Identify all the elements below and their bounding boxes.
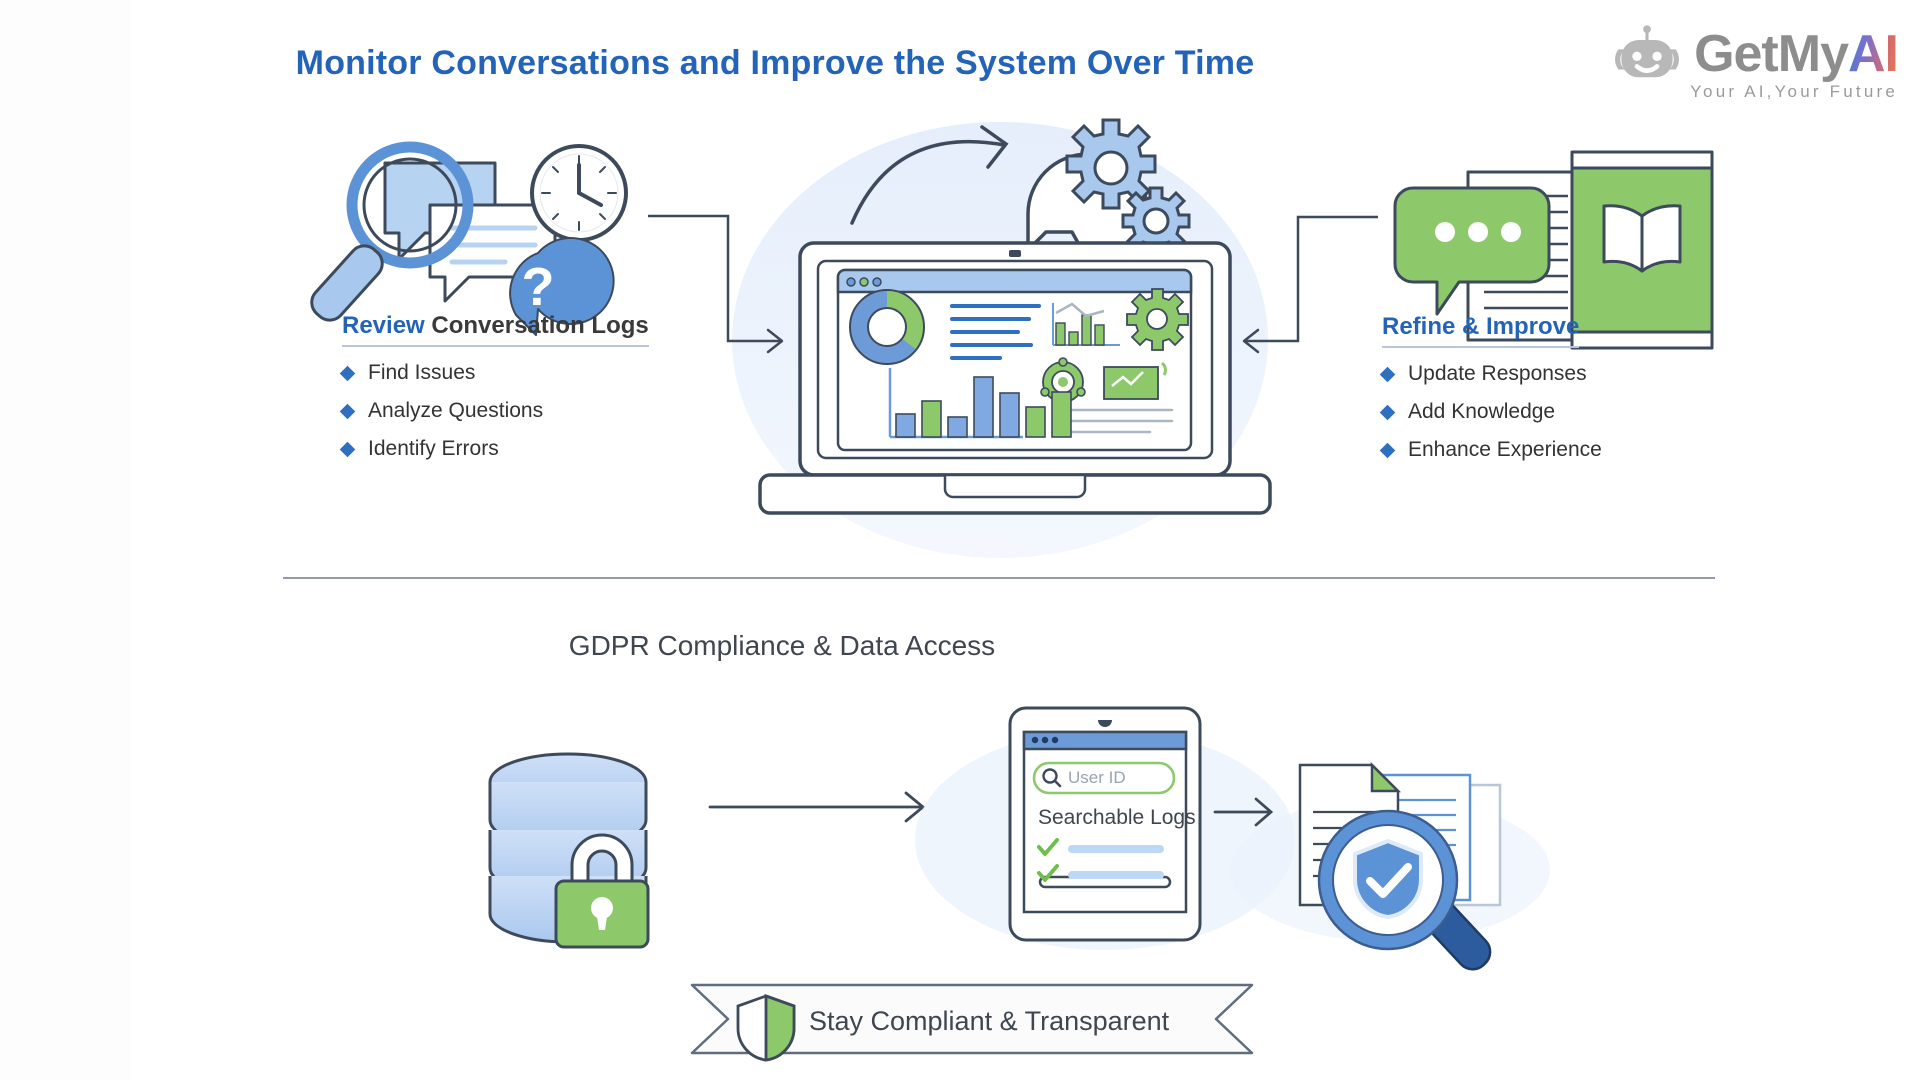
left-heading-accent: Review [342,312,425,339]
svg-text:?: ? [522,257,555,317]
shield-icon [738,996,794,1060]
tablet-icon [915,708,1295,950]
diamond-bullet-icon [1380,366,1396,382]
left-column-heading: Review Conversation Logs [342,312,649,347]
list-item: Identify Errors [342,437,649,461]
tablet-heading: Searchable Logs [1038,806,1196,829]
ribbon-label: Stay Compliant & Transparent [809,1006,1170,1036]
list-item-label: Identify Errors [368,437,499,461]
gear-icon [1067,120,1155,208]
list-item-label: Find Issues [368,361,475,385]
list-item-label: Analyze Questions [368,399,543,423]
right-column-heading: Refine & Improve [1382,313,1579,348]
diamond-bullet-icon [1380,404,1396,420]
dashboard-icon [838,270,1191,450]
diamond-bullet-icon [1380,442,1396,458]
diamond-bullet-icon [340,365,356,381]
gear-card [1127,289,1188,350]
right-column-bullets: Update Responses Add Knowledge Enhance E… [1382,362,1602,462]
diamond-bullet-icon [340,403,356,419]
list-item: Find Issues [342,361,649,385]
right-column: Refine & Improve Update Responses Add Kn… [1382,313,1602,476]
section-two-title: GDPR Compliance & Data Access [0,630,1920,662]
list-item-label: Update Responses [1408,362,1587,386]
list-item: Analyze Questions [342,399,649,423]
shield-check-icon [1355,841,1421,917]
tablet-search-placeholder: User ID [1068,768,1126,787]
list-item-label: Enhance Experience [1408,438,1602,462]
tablet-titlebar [1024,732,1186,749]
left-heading-rest: Conversation Logs [425,312,649,339]
section-two-title-text: GDPR Compliance & Data Access [569,630,995,662]
infographic-canvas: ? [0,0,1920,1080]
list-item: Enhance Experience [1382,438,1602,462]
left-column: Review Conversation Logs Find Issues Ana… [342,312,649,475]
ribbon-banner: Stay Compliant & Transparent [692,985,1252,1060]
list-item: Update Responses [1382,362,1602,386]
database-lock-icon [490,754,648,947]
left-column-bullets: Find Issues Analyze Questions Identify E… [342,361,649,461]
list-item-label: Add Knowledge [1408,400,1555,424]
list-item: Add Knowledge [1382,400,1602,424]
image-card [1104,363,1165,399]
diamond-bullet-icon [340,441,356,457]
tablet-search-field[interactable]: User ID [1034,763,1174,793]
arrow-db-to-tablet [710,793,923,821]
window-titlebar [838,270,1191,292]
left-icon-cluster: ? [306,146,626,335]
clock-icon [532,146,626,240]
